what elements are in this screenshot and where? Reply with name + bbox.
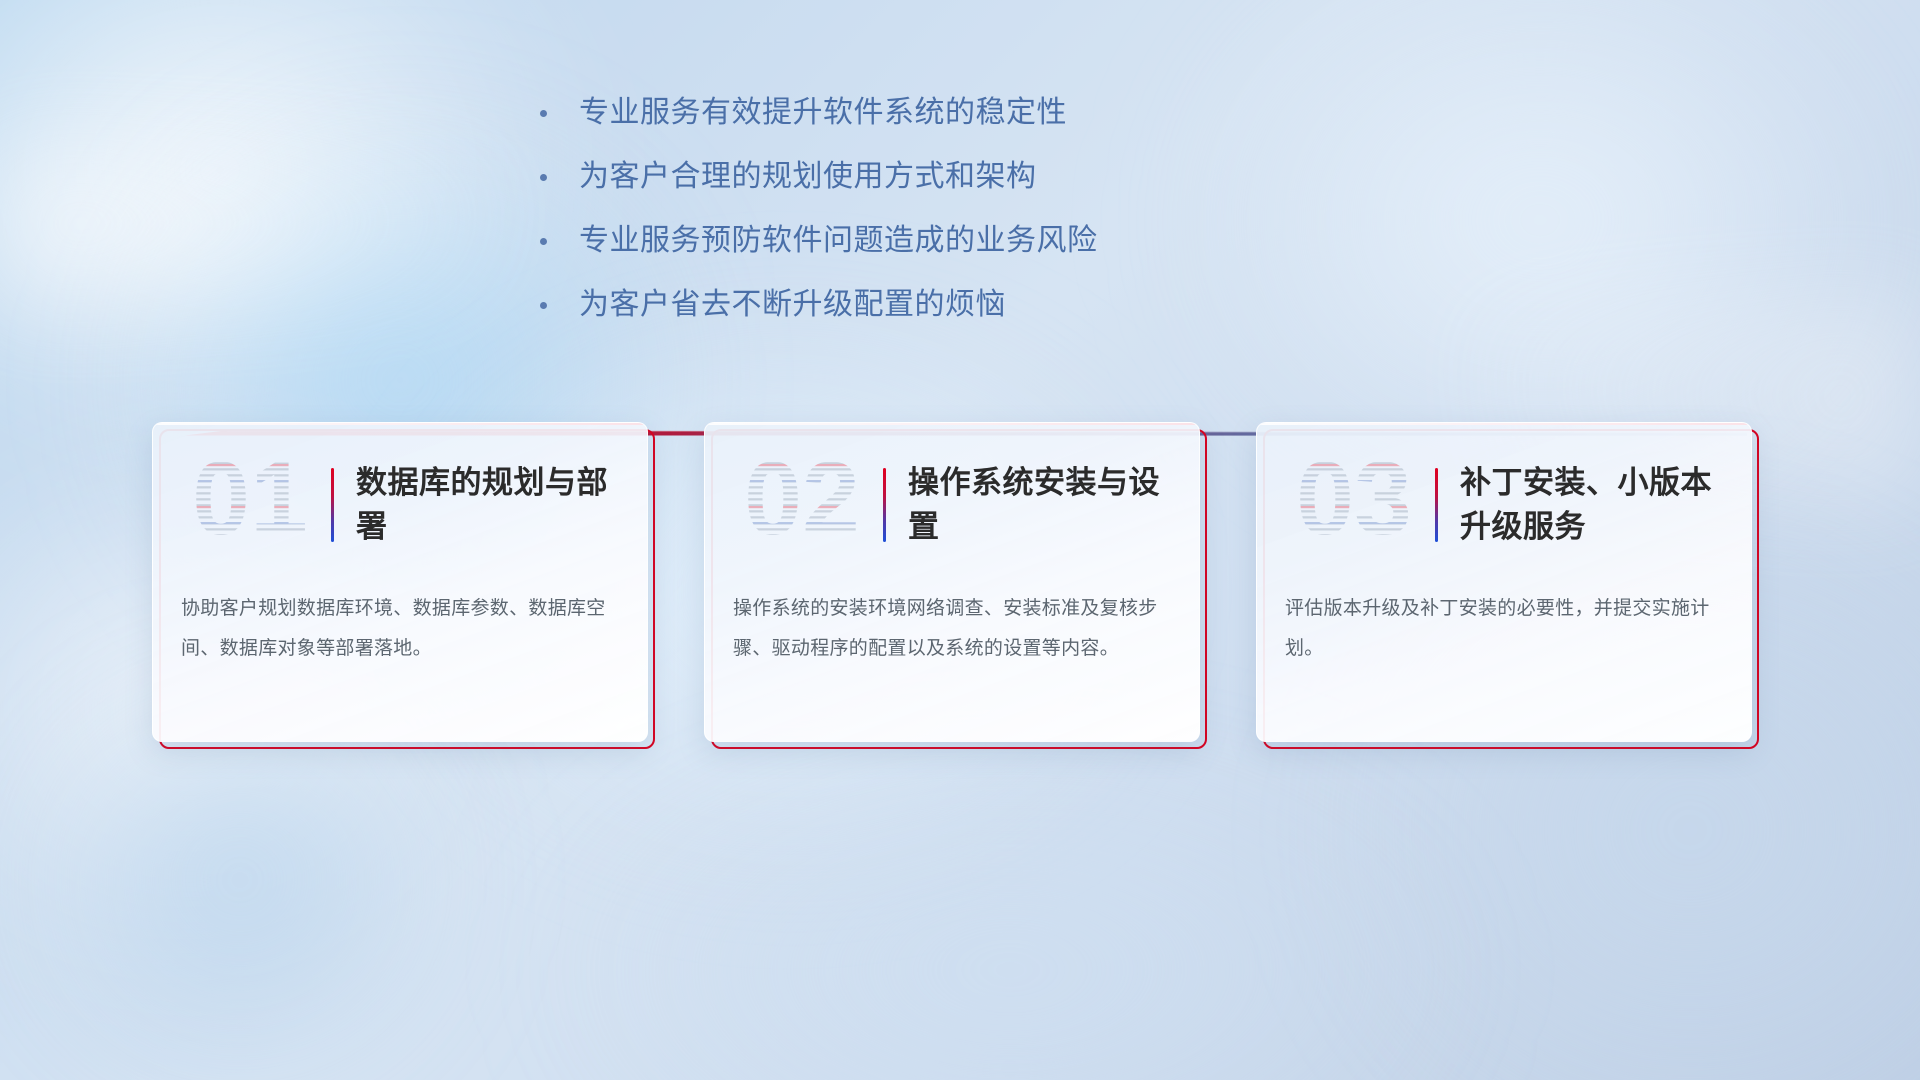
card-title: 数据库的规划与部署	[356, 461, 647, 549]
card-header: 01 数据库的规划与部署	[153, 441, 647, 569]
service-cards: 01 数据库的规划与部署 协助客户规划数据库环境、数据库参数、数据库空间、数据库…	[152, 422, 1782, 752]
benefits-bullet-list: 专业服务有效提升软件系统的稳定性 为客户合理的规划使用方式和架构 专业服务预防软…	[540, 92, 1440, 348]
bullet-dot-icon	[540, 238, 547, 245]
bullet-dot-icon	[540, 302, 547, 309]
card-description: 操作系统的安装环境网络调查、安装标准及复核步骤、驱动程序的配置以及系统的设置等内…	[733, 589, 1173, 669]
card-number-watermark: 02	[727, 450, 877, 560]
bullet-text: 为客户省去不断升级配置的烦恼	[579, 284, 1006, 326]
list-item: 为客户省去不断升级配置的烦恼	[540, 284, 1440, 326]
list-item: 为客户合理的规划使用方式和架构	[540, 156, 1440, 198]
background-streak	[0, 150, 520, 300]
card-description: 协助客户规划数据库环境、数据库参数、数据库空间、数据库对象等部署落地。	[181, 589, 621, 669]
card-accent-bar	[331, 468, 334, 542]
list-item: 专业服务预防软件问题造成的业务风险	[540, 220, 1440, 262]
card-title: 操作系统安装与设置	[908, 461, 1199, 549]
card-number-watermark: 03	[1279, 450, 1429, 560]
service-card[interactable]: 02 操作系统安装与设置 操作系统的安装环境网络调查、安装标准及复核步骤、驱动程…	[704, 422, 1200, 742]
bullet-text: 专业服务预防软件问题造成的业务风险	[579, 220, 1098, 262]
card-description: 评估版本升级及补丁安装的必要性，并提交实施计划。	[1285, 589, 1725, 669]
bullet-dot-icon	[540, 174, 547, 181]
card-surface: 02 操作系统安装与设置 操作系统的安装环境网络调查、安装标准及复核步骤、驱动程…	[704, 422, 1200, 742]
bullet-dot-icon	[540, 110, 547, 117]
card-accent-bar	[1435, 468, 1438, 542]
list-item: 专业服务有效提升软件系统的稳定性	[540, 92, 1440, 134]
card-accent-bar	[883, 468, 886, 542]
card-surface: 03 补丁安装、小版本升级服务 评估版本升级及补丁安装的必要性，并提交实施计划。	[1256, 422, 1752, 742]
card-surface: 01 数据库的规划与部署 协助客户规划数据库环境、数据库参数、数据库空间、数据库…	[152, 422, 648, 742]
bullet-text: 为客户合理的规划使用方式和架构	[579, 156, 1037, 198]
service-card[interactable]: 03 补丁安装、小版本升级服务 评估版本升级及补丁安装的必要性，并提交实施计划。	[1256, 422, 1752, 742]
card-number-watermark: 01	[175, 450, 325, 560]
service-card[interactable]: 01 数据库的规划与部署 协助客户规划数据库环境、数据库参数、数据库空间、数据库…	[152, 422, 648, 742]
card-header: 02 操作系统安装与设置	[705, 441, 1199, 569]
bullet-text: 专业服务有效提升软件系统的稳定性	[579, 92, 1067, 134]
card-title: 补丁安装、小版本升级服务	[1460, 461, 1751, 549]
card-header: 03 补丁安装、小版本升级服务	[1257, 441, 1751, 569]
